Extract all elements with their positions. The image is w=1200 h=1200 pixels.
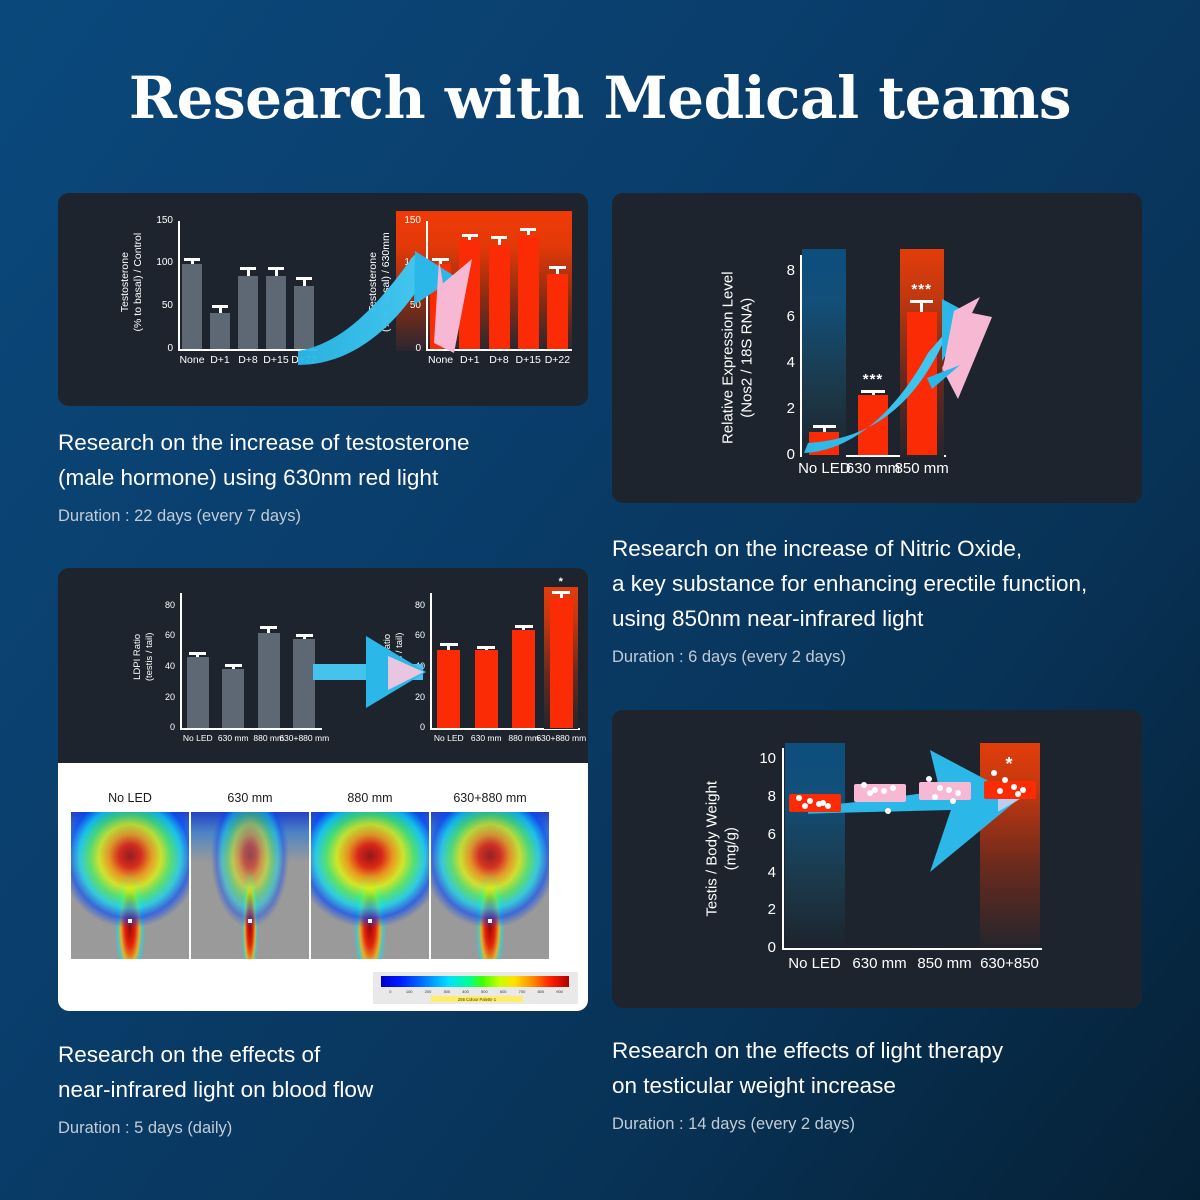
scatter-box-2 bbox=[919, 782, 971, 800]
x-label-testis-3: 630+850 bbox=[962, 955, 1058, 972]
ldpi-colorbar-gradient bbox=[381, 976, 569, 987]
chart-testis-weight: 0246810Testis / Body Weight(mg/g)No LED6… bbox=[612, 710, 1142, 1008]
significance-testis-3: * bbox=[980, 754, 1040, 775]
ldpi-marker-1 bbox=[248, 919, 252, 923]
ldpi-colorbar-tick-6: 600 bbox=[494, 989, 513, 994]
chart-nitric-oxide: 02468No LED***630 mm***850 mmRelative Ex… bbox=[612, 193, 1142, 503]
caption-testosterone-line2: (male hormone) using 630nm red light bbox=[58, 461, 598, 496]
chart-card-ldpi: 020406080No LED630 mm880 mm630+880 mmLDP… bbox=[58, 568, 588, 1011]
scatter-point-0-4 bbox=[802, 803, 808, 809]
scatter-point-1-0 bbox=[861, 782, 867, 788]
ldpi-colorbar-tick-1: 100 bbox=[400, 989, 419, 994]
ldpi-image-label-3: 630+880 mm bbox=[431, 791, 549, 805]
scatter-box-3 bbox=[984, 781, 1036, 799]
scatter-point-2-0 bbox=[926, 776, 932, 782]
caption-testis-line1: Research on the effects of light therapy bbox=[612, 1034, 1152, 1069]
scatter-point-2-5 bbox=[950, 798, 956, 804]
ldpi-marker-3 bbox=[488, 919, 492, 923]
page-title: Research with Medical teams bbox=[0, 64, 1200, 132]
ldpi-thermal-image-1 bbox=[191, 812, 309, 959]
scatter-point-2-3 bbox=[955, 790, 961, 796]
infographic-page: Research with Medical teams 050100150Non… bbox=[0, 0, 1200, 1200]
caption-ldpi-duration: Duration : 5 days (daily) bbox=[58, 1119, 588, 1138]
scatter-point-2-2 bbox=[946, 787, 952, 793]
chart-card-testis-weight: 0246810Testis / Body Weight(mg/g)No LED6… bbox=[612, 710, 1142, 1008]
scatter-point-2-1 bbox=[937, 785, 943, 791]
scatter-point-1-4 bbox=[867, 790, 873, 796]
scatter-point-1-2 bbox=[881, 788, 887, 794]
caption-testosterone: Research on the increase of testosterone… bbox=[58, 426, 598, 526]
ldpi-colorbar-tick-3: 300 bbox=[437, 989, 456, 994]
caption-ldpi: Research on the effects of near-infrared… bbox=[58, 1038, 588, 1138]
ldpi-marker-0 bbox=[128, 919, 132, 923]
chart-card-nitric-oxide: 02468No LED***630 mm***850 mmRelative Ex… bbox=[612, 193, 1142, 503]
ldpi-image-label-0: No LED bbox=[71, 791, 189, 805]
ldpi-thermal-blob-0 bbox=[71, 812, 189, 959]
caption-nitric-line2: a key substance for enhancing erectile f… bbox=[612, 567, 1157, 602]
chart-card-testosterone: 050100150NoneD+1D+8D+15D+22Testosterone(… bbox=[58, 193, 588, 406]
ldpi-thermal-blob-2 bbox=[311, 812, 429, 959]
ldpi-colorbar-tick-9: 900 bbox=[550, 989, 569, 994]
scatter-point-1-3 bbox=[890, 785, 896, 791]
caption-testosterone-duration: Duration : 22 days (every 7 days) bbox=[58, 507, 598, 526]
ldpi-colorbar-tick-8: 800 bbox=[531, 989, 550, 994]
caption-testis-duration: Duration : 14 days (every 2 days) bbox=[612, 1115, 1152, 1134]
caption-testis-weight: Research on the effects of light therapy… bbox=[612, 1034, 1152, 1134]
ldpi-colorbar-tick-5: 500 bbox=[475, 989, 494, 994]
ldpi-thermal-blob-1 bbox=[191, 812, 309, 959]
ldpi-colorbar-caption: 256 Colour Palette 1 bbox=[431, 996, 523, 1002]
caption-testosterone-line1: Research on the increase of testosterone bbox=[58, 426, 598, 461]
scatter-point-2-4 bbox=[932, 794, 938, 800]
chart-testosterone: 050100150NoneD+1D+8D+15D+22Testosterone(… bbox=[58, 193, 588, 406]
scatter-point-0-1 bbox=[807, 798, 813, 804]
caption-nitric-oxide: Research on the increase of Nitric Oxide… bbox=[612, 532, 1157, 667]
caption-ldpi-line1: Research on the effects of bbox=[58, 1038, 588, 1073]
ldpi-image-label-2: 880 mm bbox=[311, 791, 429, 805]
scatter-point-1-5 bbox=[885, 808, 891, 814]
ldpi-colorbar: 0100200300400500600700800900256 Colour P… bbox=[373, 972, 578, 1004]
ldpi-colorbar-tick-0: 0 bbox=[381, 989, 400, 994]
scatter-point-0-0 bbox=[796, 795, 802, 801]
ldpi-colorbar-tick-2: 200 bbox=[419, 989, 438, 994]
ldpi-colorbar-tick-4: 400 bbox=[456, 989, 475, 994]
ldpi-image-label-1: 630 mm bbox=[191, 791, 309, 805]
scatter-point-3-2 bbox=[1011, 784, 1017, 790]
ldpi-thermal-image-2 bbox=[311, 812, 429, 959]
ldpi-thermal-blob-3 bbox=[431, 812, 549, 959]
scatter-point-3-1 bbox=[1002, 777, 1008, 783]
caption-nitric-duration: Duration : 6 days (every 2 days) bbox=[612, 648, 1157, 667]
transition-arrow-blue bbox=[58, 193, 588, 406]
ldpi-thermal-image-0 bbox=[71, 812, 189, 959]
scatter-point-0-5 bbox=[820, 800, 826, 806]
ldpi-marker-2 bbox=[368, 919, 372, 923]
transition-arrow-blue bbox=[612, 193, 1142, 503]
transition-arrow-blue bbox=[58, 568, 588, 763]
ldpi-image-panel: No LED630 mm880 mm630+880 mm010020030040… bbox=[58, 763, 588, 1011]
scatter-point-3-5 bbox=[1015, 791, 1021, 797]
scatter-point-3-4 bbox=[997, 788, 1003, 794]
caption-nitric-line1: Research on the increase of Nitric Oxide… bbox=[612, 532, 1157, 567]
ldpi-thermal-image-3 bbox=[431, 812, 549, 959]
caption-ldpi-line2: near-infrared light on blood flow bbox=[58, 1073, 588, 1108]
ldpi-colorbar-tick-7: 700 bbox=[513, 989, 532, 994]
caption-nitric-line3: using 850nm near-infrared light bbox=[612, 602, 1157, 637]
caption-testis-line2: on testicular weight increase bbox=[612, 1069, 1152, 1104]
